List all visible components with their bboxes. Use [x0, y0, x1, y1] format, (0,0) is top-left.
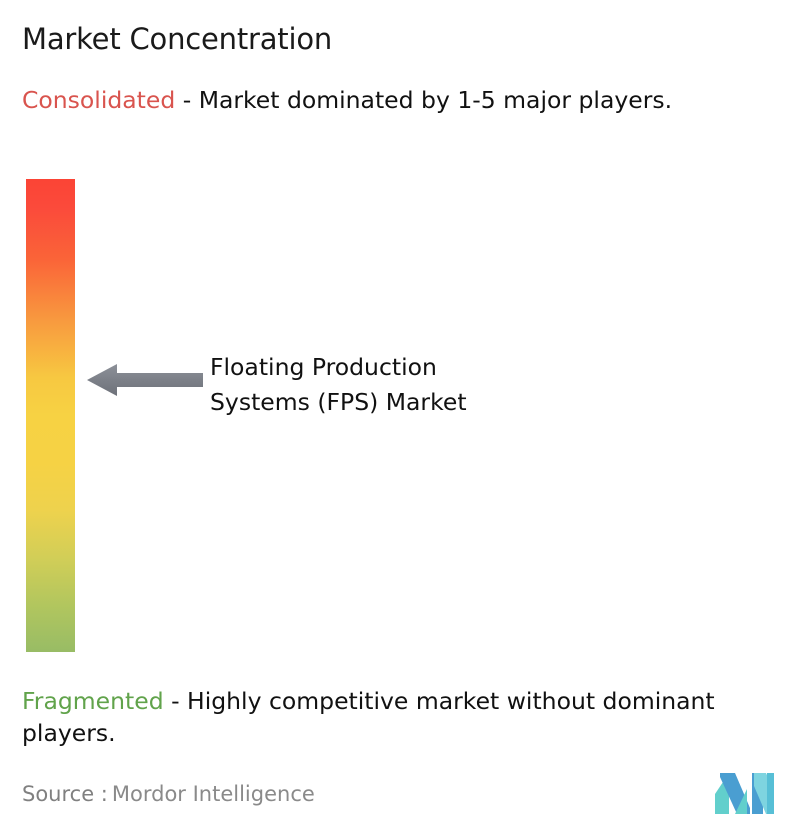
- concentration-gradient-bar: [26, 179, 75, 652]
- source-label: Source :: [22, 782, 108, 806]
- source-line: Source :Mordor Intelligence: [22, 780, 315, 808]
- market-position-arrow: [87, 362, 203, 398]
- mordor-intelligence-logo: [714, 768, 776, 816]
- mordor-logo-icon: [714, 768, 776, 816]
- fragmented-description: Fragmented - Highly competitive market w…: [22, 685, 784, 749]
- page-title: Market Concentration: [22, 20, 332, 58]
- source-value: Mordor Intelligence: [112, 782, 315, 806]
- market-name-label: Floating Production Systems (FPS) Market: [210, 350, 630, 420]
- market-concentration-infographic: Market Concentration Consolidated - Mark…: [0, 0, 796, 834]
- fragmented-label: Fragmented: [22, 687, 164, 715]
- market-name-line-1: Floating Production: [210, 350, 630, 385]
- consolidated-description-text: - Market dominated by 1-5 major players.: [175, 86, 672, 114]
- consolidated-description: Consolidated - Market dominated by 1-5 m…: [22, 84, 774, 116]
- market-name-line-2: Systems (FPS) Market: [210, 385, 630, 420]
- left-arrow-icon: [87, 362, 203, 398]
- consolidated-label: Consolidated: [22, 86, 175, 114]
